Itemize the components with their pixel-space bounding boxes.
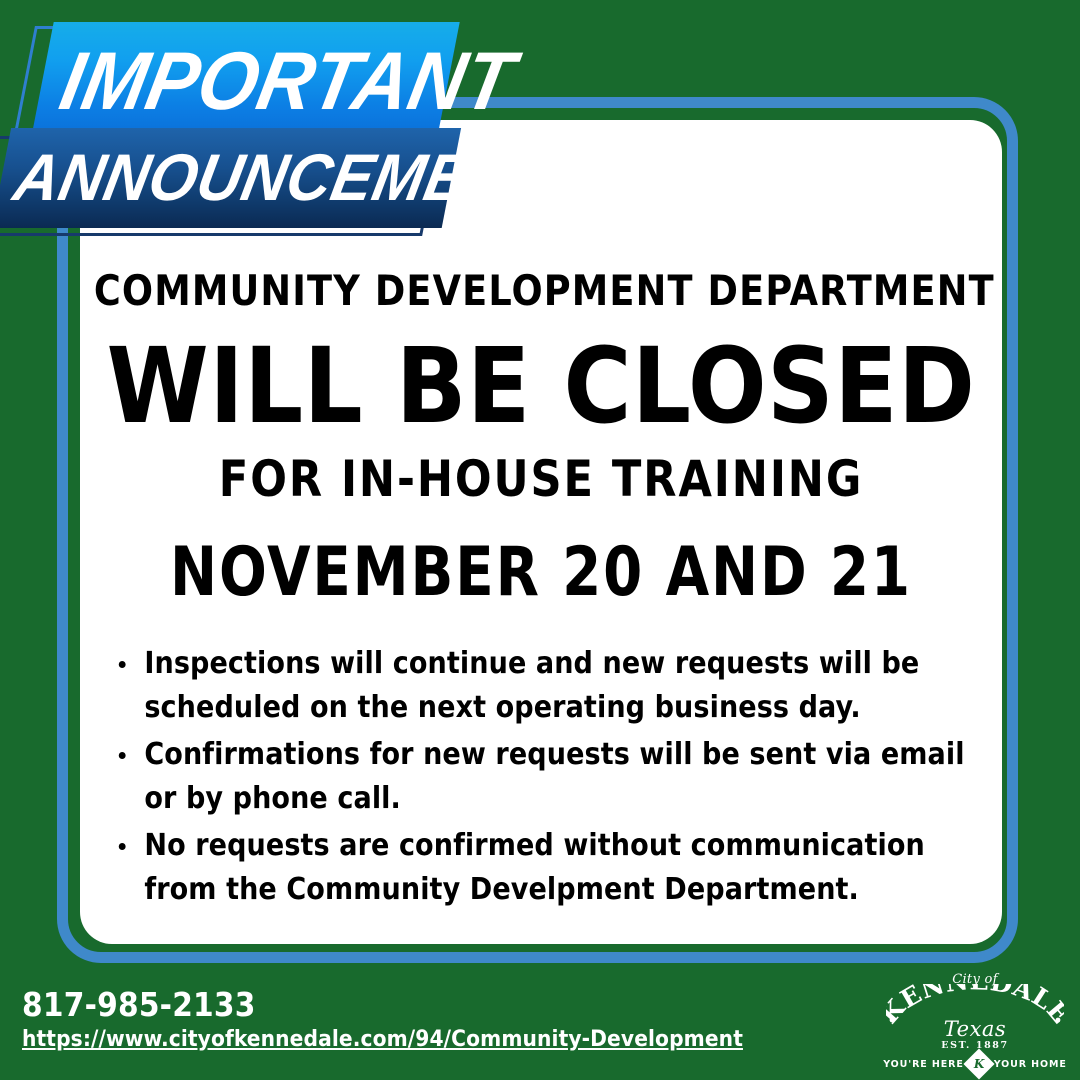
logo-monogram-letter: K (974, 1058, 984, 1070)
logo-tagline-right: YOUR HOME (994, 1059, 1067, 1070)
card-content: COMMUNITY DEVELOPMENT DEPARTMENT WILL BE… (80, 120, 1002, 944)
logo-established-text: EST. 1887 (886, 1040, 1064, 1051)
closure-reason: FOR IN-HOUSE TRAINING (98, 450, 983, 508)
kennedale-city-logo: City of KENNEDALE Texas EST. 1887 YOU'RE… (886, 972, 1064, 1068)
logo-tagline: YOU'RE HERE K YOUR HOME (886, 1053, 1064, 1075)
diamond-monogram-icon: K (963, 1048, 994, 1079)
logo-tagline-left: YOU'RE HERE (883, 1059, 964, 1070)
footer-contact: 817-985-2133 https://www.cityofkennedale… (22, 986, 743, 1054)
announcement-poster: IMPORTANT ANNOUNCEMENT COMMUNITY DEVELOP… (0, 0, 1080, 1080)
department-name: COMMUNITY DEVELOPMENT DEPARTMENT (94, 266, 988, 315)
list-item: Confirmations for new requests will be s… (102, 733, 969, 821)
closure-dates: NOVEMBER 20 AND 21 (117, 533, 965, 612)
list-item: No requests are confirmed without commun… (102, 824, 969, 912)
list-item: Inspections will continue and new reques… (102, 642, 969, 730)
details-list: Inspections will continue and new reques… (102, 642, 982, 915)
logo-texas-text: Texas (886, 1017, 1064, 1041)
phone-number[interactable]: 817-985-2133 (22, 986, 743, 1024)
website-link[interactable]: https://www.cityofkennedale.com/94/Commu… (22, 1024, 743, 1054)
closure-headline: WILL BE CLOSED (85, 325, 998, 447)
